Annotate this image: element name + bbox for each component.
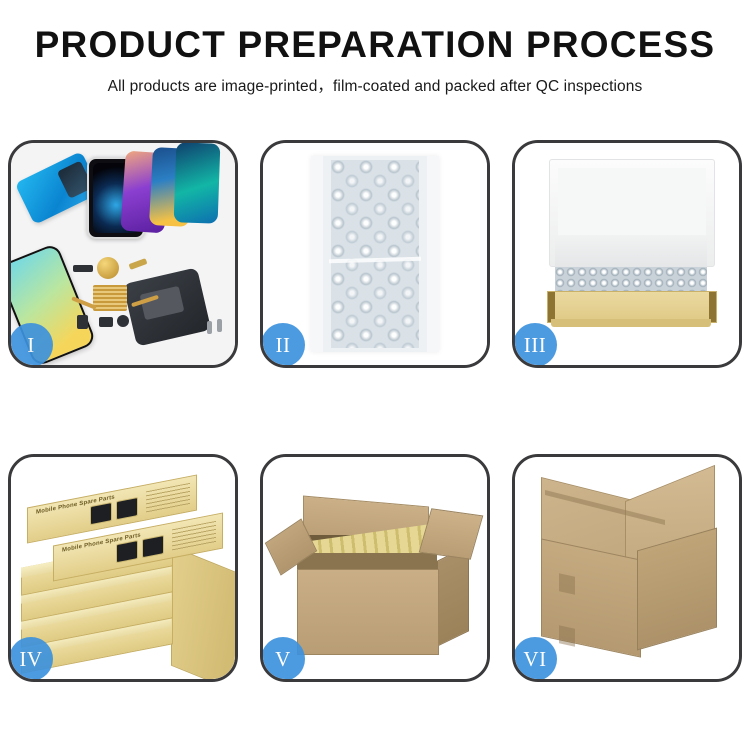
connector-mesh-part: [93, 285, 127, 311]
screw-part-2: [217, 319, 222, 332]
page-title: PRODUCT PREPARATION PROCESS: [0, 26, 750, 65]
carton-right-side: [437, 545, 469, 647]
carton-tab-top: [559, 573, 575, 594]
step-badge-4: IV: [9, 637, 53, 681]
screw-part-1: [207, 321, 212, 334]
green-gradient-phone: [174, 143, 221, 224]
box-art-screen-1: [90, 502, 112, 525]
process-step-card-4: Mobile Phone Spare Parts Mobile Phone Sp…: [8, 454, 238, 682]
header: PRODUCT PREPARATION PROCESS All products…: [0, 0, 750, 96]
button-part: [117, 315, 129, 327]
foam-liner: [555, 235, 707, 271]
phone-back-housing: [123, 267, 211, 346]
page-subtitle: All products are image-printed，film-coat…: [0, 74, 750, 96]
inner-box-front-edge: [551, 319, 711, 327]
stack-right-face: [171, 546, 235, 679]
box-art-screen-3: [116, 540, 138, 563]
process-step-card-2: II: [260, 140, 490, 368]
box-art-screen-4: [142, 535, 164, 558]
box-spec-lines-1: [146, 483, 190, 514]
bubble-wrapped-contents: [555, 267, 707, 293]
step-badge-6: VI: [513, 637, 557, 681]
step-badge-1: I: [9, 323, 53, 367]
sealed-carton-front-face: [541, 538, 641, 657]
step-badge-5: V: [261, 637, 305, 681]
gold-flex-part: [129, 258, 148, 270]
box-art-screen-2: [116, 497, 138, 520]
box-spec-lines-2: [172, 521, 216, 552]
process-step-card-6: VI: [512, 454, 742, 682]
speaker-coil-part: [97, 257, 119, 279]
bubble-wrap-pack: [311, 156, 439, 352]
bubble-texture: [331, 160, 419, 348]
process-step-card-1: I: [8, 140, 238, 368]
infographic-page: PRODUCT PREPARATION PROCESS All products…: [0, 0, 750, 750]
step-badge-3: III: [513, 323, 557, 367]
carton-tab-bottom: [559, 625, 575, 646]
retail-box-stack: Mobile Phone Spare Parts Mobile Phone Sp…: [17, 475, 235, 671]
process-step-card-5: V: [260, 454, 490, 682]
camera-module-part: [77, 315, 88, 329]
carton-front-face: [297, 569, 439, 655]
process-step-card-3: III: [512, 140, 742, 368]
battery-connector-part: [99, 317, 113, 327]
carton-right-flap: [419, 508, 484, 560]
small-chip-part: [73, 265, 93, 272]
sealed-carton-side-face: [637, 528, 717, 651]
process-step-grid: I II III: [8, 140, 742, 688]
step-badge-2: II: [261, 323, 305, 367]
